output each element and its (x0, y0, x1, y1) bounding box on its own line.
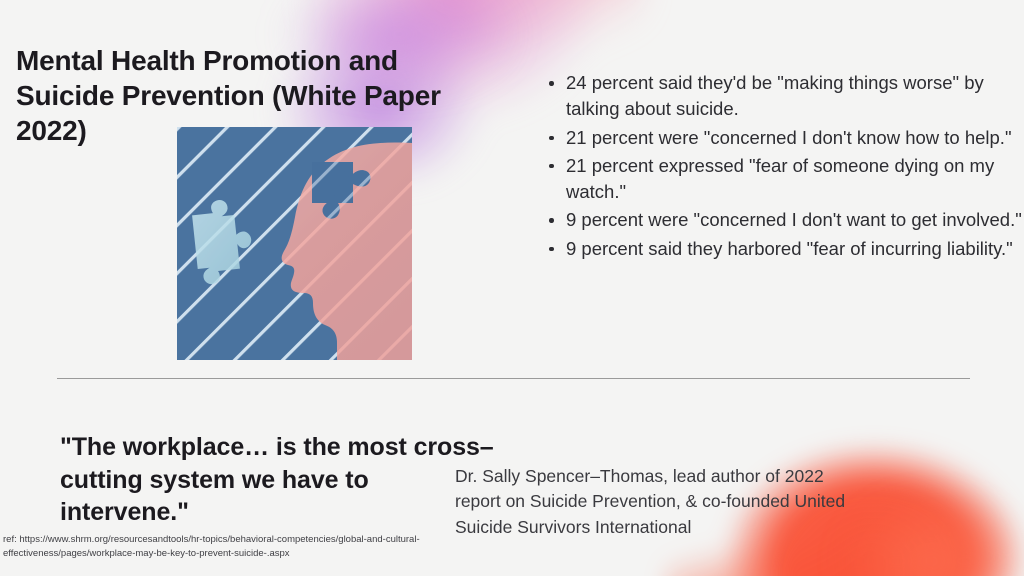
head-puzzle-illustration (177, 127, 412, 360)
list-item: 21 percent were "concerned I don't know … (566, 125, 1024, 151)
stripe-texture-overlay (177, 127, 412, 360)
list-item: 24 percent said they'd be "making things… (566, 70, 1024, 123)
slide-canvas: Mental Health Promotion and Suicide Prev… (0, 0, 1024, 576)
quote-attribution: Dr. Sally Spencer–Thomas, lead author of… (455, 464, 855, 540)
statistics-bullet-list: 24 percent said they'd be "making things… (540, 70, 1024, 264)
list-item: 9 percent were "concerned I don't want t… (566, 207, 1024, 233)
horizontal-divider (57, 378, 970, 379)
list-item: 9 percent said they harbored "fear of in… (566, 236, 1024, 262)
reference-url: ref: https://www.shrm.org/resourcesandto… (3, 533, 443, 561)
head-puzzle-illustration-svg (177, 127, 412, 360)
pull-quote: "The workplace… is the most cross–cuttin… (60, 431, 500, 529)
list-item: 21 percent expressed "fear of someone dy… (566, 153, 1024, 206)
